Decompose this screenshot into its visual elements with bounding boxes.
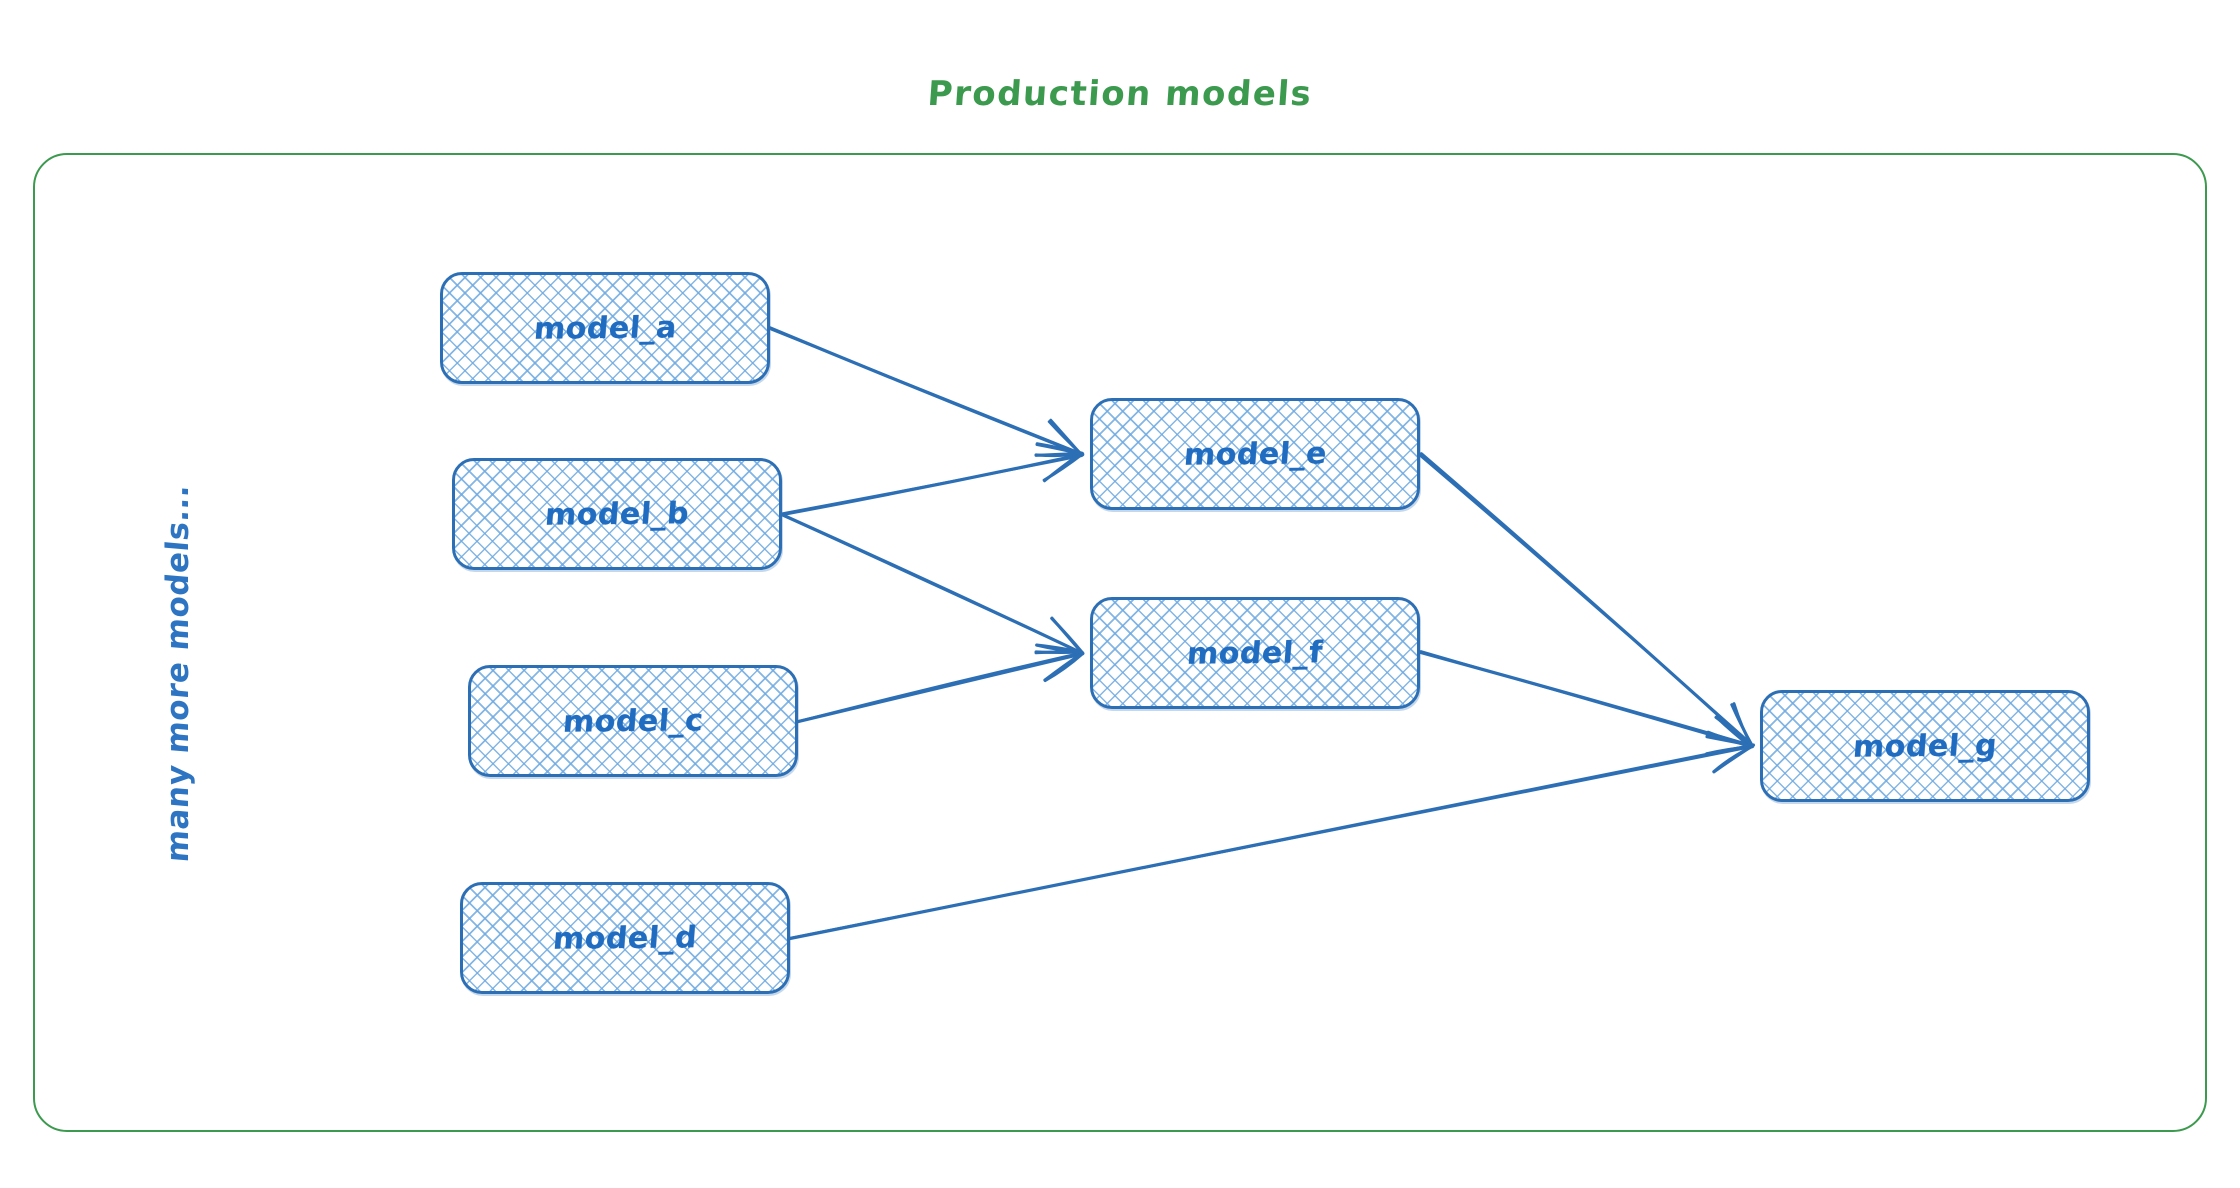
node-model-g[interactable]: model_g	[1760, 690, 2090, 802]
node-model-f[interactable]: model_f	[1090, 597, 1420, 709]
node-label-model-c: model_c	[561, 703, 704, 739]
node-model-e[interactable]: model_e	[1090, 398, 1420, 510]
node-label-model-a: model_a	[532, 310, 678, 346]
node-label-model-d: model_d	[552, 920, 699, 957]
node-model-a[interactable]: model_a	[440, 272, 770, 384]
node-model-b[interactable]: model_b	[452, 458, 782, 570]
node-label-model-b: model_b	[544, 496, 691, 533]
node-model-d[interactable]: model_d	[460, 882, 790, 994]
many-more-models-note: many more models...	[153, 520, 203, 864]
node-label-model-f: model_f	[1186, 635, 1324, 671]
diagram-canvas: Production models model_a model_b model_…	[0, 0, 2240, 1188]
node-label-model-g: model_g	[1852, 728, 1999, 765]
node-label-model-e: model_e	[1182, 436, 1328, 472]
node-model-c[interactable]: model_c	[468, 665, 798, 777]
edge-layer	[0, 0, 2240, 1188]
